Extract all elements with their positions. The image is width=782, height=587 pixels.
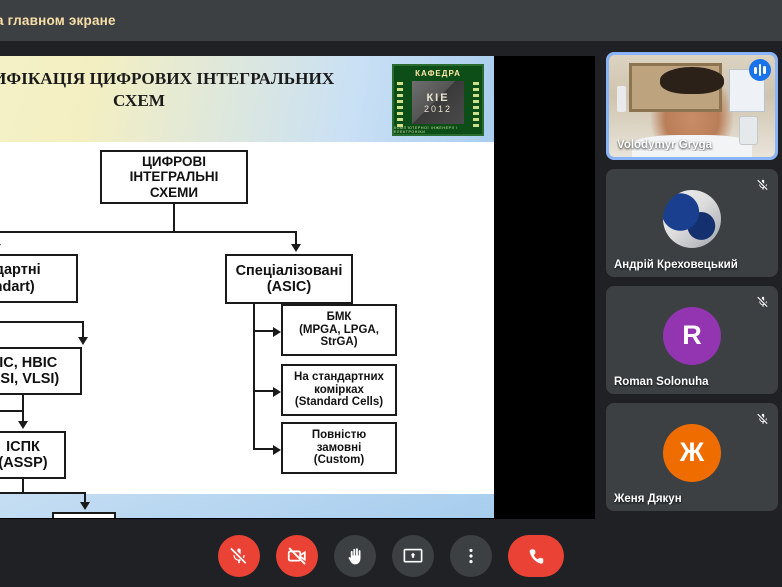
node-asic-line2: (ASIC)	[267, 279, 311, 295]
mic-muted-icon	[752, 408, 773, 429]
diagram-node-assp: ІСПК (ASSP)	[0, 431, 66, 479]
mic-off-icon	[229, 546, 249, 566]
node-bmk-line3: StrGA)	[320, 336, 357, 349]
top-banner: а главном экране	[0, 0, 782, 41]
participant-name: Андрій Креховецький	[614, 259, 756, 271]
node-root-line2: ІНТЕГРАЛЬНІ	[130, 169, 219, 184]
arrow-to-custom	[273, 445, 281, 455]
node-asic-line1: Спеціалізовані	[236, 263, 343, 279]
raise-hand-button[interactable]	[334, 535, 376, 577]
node-assp-line2: (ASSP)	[0, 455, 48, 471]
edge-root-down	[173, 204, 175, 231]
edge-assp-split	[0, 492, 86, 494]
diagram-node-asic: Спеціалізовані (ASIC)	[225, 254, 353, 304]
diagram-node-root: ЦИФРОВІ ІНТЕГРАЛЬНІ СХЕМИ	[100, 150, 248, 204]
node-bmk-line2: (MPGA, LPGA,	[299, 324, 379, 337]
background-object-left	[617, 86, 625, 113]
call-controls-bar	[0, 525, 782, 587]
edge-asic-to-bmk	[253, 330, 275, 332]
edge-lsi-split	[0, 410, 24, 412]
participant-name: Roman Solonuha	[614, 376, 756, 388]
edge-asic-to-custom	[253, 448, 275, 450]
node-custom-line1: Повністю	[312, 429, 366, 442]
node-root-line1: ЦИФРОВІ	[142, 154, 206, 169]
presentation-slide: КЛАСИФІКАЦІЯ ЦИФРОВИХ ІНТЕГРАЛЬНИХ СХЕМ …	[0, 56, 494, 518]
logo-initials: КІЕ	[426, 92, 449, 104]
participant-rail: Volodymyr Gryga Андрій Креховецький R	[606, 52, 782, 520]
node-cells-line1: На стандартних	[294, 371, 384, 384]
mic-muted-icon	[752, 291, 773, 312]
diagram-node-bmk: БМК (MPGA, LPGA, StrGA)	[281, 304, 397, 356]
participant-name: Женя Дякун	[614, 493, 756, 505]
diagram-node-pais: ПАІС	[52, 512, 116, 518]
avatar: R	[663, 307, 721, 365]
arrow-to-cells	[273, 387, 281, 397]
meeting-window: а главном экране КЛАСИФІКАЦІЯ ЦИФРОВИХ І…	[0, 0, 782, 587]
participant-tile-zhenia-diakun[interactable]: Ж Женя Дякун	[606, 403, 778, 511]
node-custom-line3: (Custom)	[314, 454, 364, 467]
end-call-icon	[524, 544, 549, 569]
node-standard-line2: (Standart)	[0, 279, 35, 295]
more-options-button[interactable]	[450, 535, 492, 577]
avatar: Ж	[663, 424, 721, 482]
present-screen-button[interactable]	[392, 535, 434, 577]
logo-chip: КІЕ 2012	[412, 81, 464, 124]
diagram-node-cells: На стандартних комірках (Standard Cells)	[281, 364, 397, 416]
screen-share-icon	[402, 545, 424, 567]
slide-title: КЛАСИФІКАЦІЯ ЦИФРОВИХ ІНТЕГРАЛЬНИХ СХЕМ	[0, 68, 348, 112]
more-vertical-icon	[461, 546, 481, 566]
node-pais-label: ПАІС	[66, 517, 101, 518]
participant-tile-andrii-krekhovetskyi[interactable]: Андрій Креховецький	[606, 169, 778, 277]
edge-asic-to-cells	[253, 390, 275, 392]
logo-top-text: КАФЕДРА	[411, 69, 465, 78]
edge-standard-split	[0, 321, 84, 323]
arrow-to-pais	[80, 502, 90, 510]
leave-call-button[interactable]	[508, 535, 564, 577]
mic-muted-icon	[752, 174, 773, 195]
avatar	[663, 190, 721, 248]
node-custom-line2: замовні	[317, 442, 362, 455]
arrow-to-standard	[0, 244, 1, 252]
arrow-to-bmk	[273, 327, 281, 337]
camera-off-icon	[286, 545, 308, 567]
edge-to-lsi	[82, 321, 84, 338]
speaking-indicator-icon	[749, 59, 771, 81]
top-banner-text: а главном экране	[0, 13, 116, 28]
diagram-node-standard: Стандартні (Standart)	[0, 254, 78, 303]
microphone-toggle-button[interactable]	[218, 535, 260, 577]
edge-assp-down	[22, 479, 24, 492]
kafedra-logo: КАФЕДРА КІЕ 2012 КОМП'ЮТЕРНОЇ ІНЖЕНЕРІЇ …	[392, 64, 484, 136]
arrow-to-lsi	[78, 337, 88, 345]
camera-toggle-button[interactable]	[276, 535, 318, 577]
participant-name: Volodymyr Gryga	[617, 139, 753, 151]
shared-screen-stage[interactable]: КЛАСИФІКАЦІЯ ЦИФРОВИХ ІНТЕГРАЛЬНИХ СХЕМ …	[0, 56, 595, 519]
node-lsi-line1: ВІС, НВІС	[0, 355, 57, 371]
participant-tile-roman-solonuha[interactable]: R Roman Solonuha	[606, 286, 778, 394]
logo-dots-left	[397, 82, 403, 128]
logo-year: 2012	[424, 104, 452, 114]
diagram-node-custom: Повністю замовні (Custom)	[281, 422, 397, 474]
node-standard-line1: Стандартні	[0, 262, 41, 278]
slide-header: КЛАСИФІКАЦІЯ ЦИФРОВИХ ІНТЕГРАЛЬНИХ СХЕМ …	[0, 56, 494, 142]
edge-to-asic	[295, 231, 297, 245]
person-hair	[660, 67, 723, 94]
participant-tile-volodymyr-gryga[interactable]: Volodymyr Gryga	[606, 52, 778, 160]
edge-root-split	[0, 231, 297, 233]
node-bmk-line1: БМК	[327, 311, 352, 324]
raised-hand-icon	[345, 546, 366, 567]
logo-bottom-text: КОМП'ЮТЕРНОЇ ІНЖЕНЕРІЇ І ЕЛЕКТРОНІКИ	[394, 126, 482, 134]
arrow-to-asic	[291, 244, 301, 252]
diagram-node-lsi: ВІС, НВІС (LSI, VLSI)	[0, 347, 82, 395]
edge-lsi-down	[22, 395, 24, 410]
arrow-to-assp	[18, 421, 28, 429]
edge-asic-trunk	[253, 304, 255, 450]
logo-dots-right	[473, 82, 479, 128]
node-cells-line2: комірках	[314, 384, 364, 397]
node-cells-line3: (Standard Cells)	[295, 396, 383, 409]
node-assp-line1: ІСПК	[6, 439, 40, 455]
diagram-canvas: ЦИФРОВІ ІНТЕГРАЛЬНІ СХЕМИ Стандартні (St…	[0, 142, 494, 494]
node-root-line3: СХЕМИ	[150, 185, 198, 200]
node-lsi-line2: (LSI, VLSI)	[0, 371, 59, 387]
